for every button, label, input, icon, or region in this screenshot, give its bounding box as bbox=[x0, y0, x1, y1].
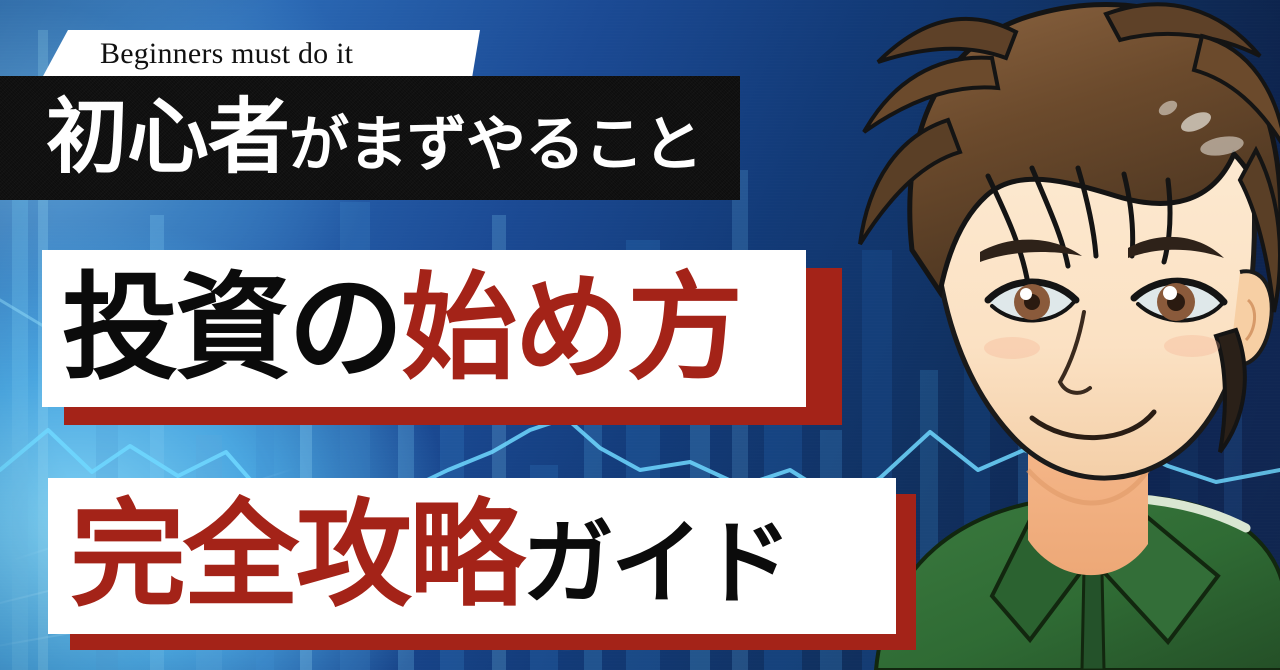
title-line-1: 投資の始め方 bbox=[42, 250, 842, 425]
headline-rest: がまずやること bbox=[289, 115, 702, 175]
title-line-2: 完全攻略ガイド bbox=[48, 478, 916, 650]
kicker-label: Beginners must do it bbox=[100, 37, 353, 71]
title-line-2-segment-black: ガイド bbox=[522, 510, 789, 617]
title-line-2-segment-red: 完全攻略 bbox=[70, 488, 522, 623]
title-line-1-segment-black: 投資の bbox=[62, 261, 401, 396]
kicker-ribbon: Beginners must do it bbox=[42, 30, 480, 78]
title-line-1-panel: 投資の始め方 bbox=[42, 250, 806, 407]
title-line-1-segment-red: 始め方 bbox=[401, 261, 740, 396]
character-blush-left bbox=[984, 337, 1040, 359]
title-line-2-panel: 完全攻略ガイド bbox=[48, 478, 896, 634]
thumbnail-canvas: Beginners must do it 初心者 がまずやること 投資の始め方 … bbox=[0, 0, 1280, 670]
headline-bar: 初心者 がまずやること bbox=[0, 76, 740, 200]
headline-emphasis: 初心者 bbox=[46, 97, 289, 179]
character-blush-right bbox=[1164, 335, 1220, 357]
